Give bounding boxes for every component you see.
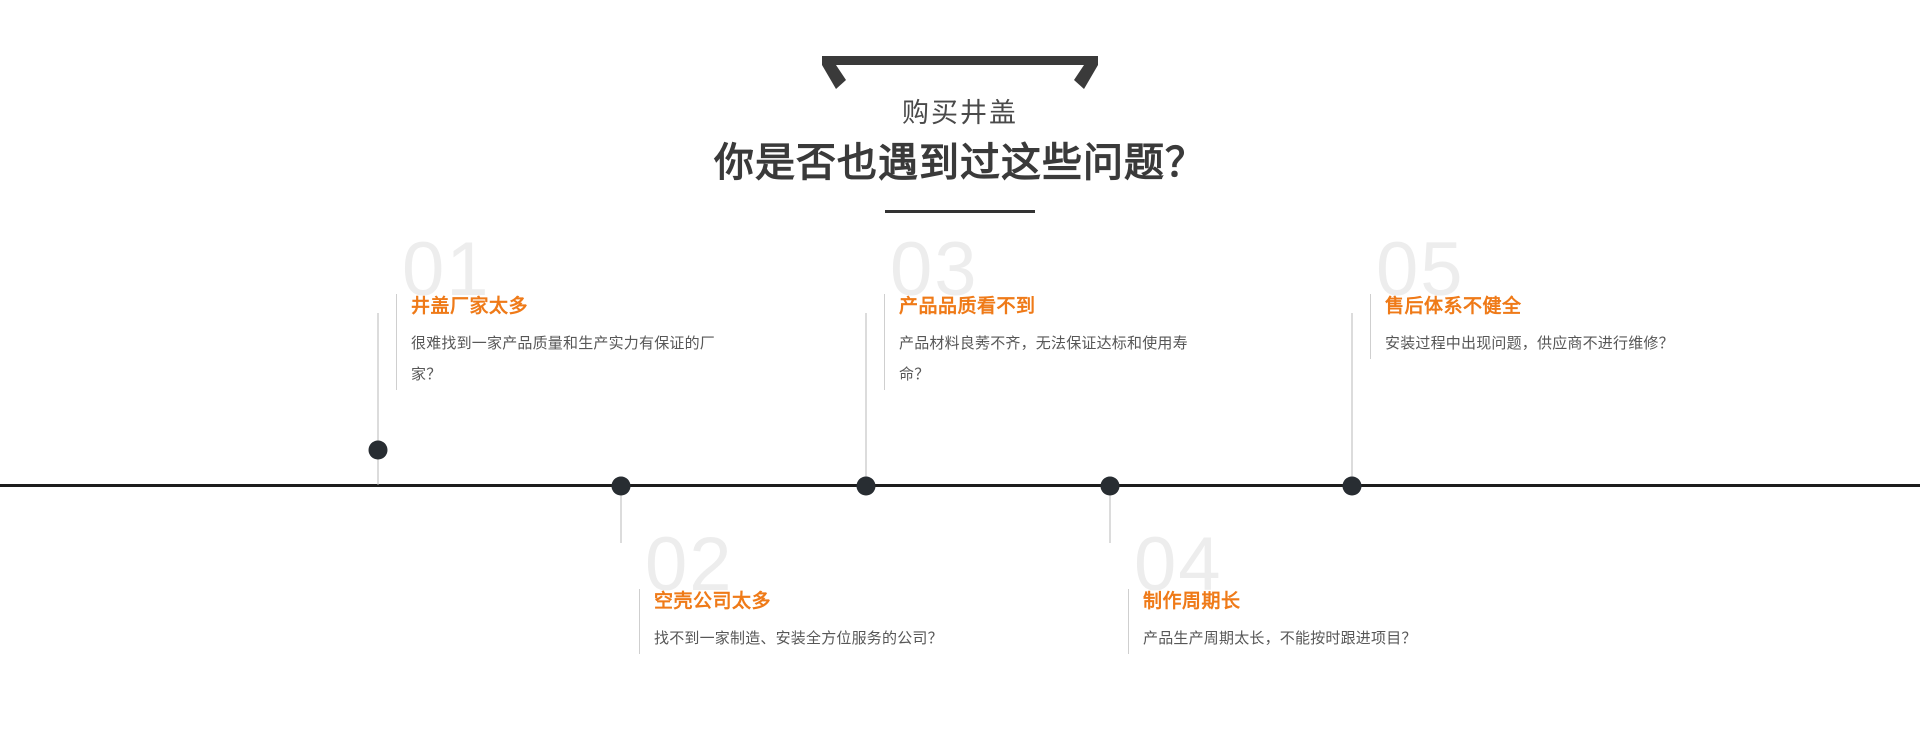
item-description: 产品材料良莠不齐，无法保证达标和使用寿命？ [899, 328, 1215, 390]
timeline-axis [0, 484, 1920, 487]
item-body: 井盖厂家太多很难找到一家产品质量和生产实力有保证的厂家？ [396, 294, 727, 390]
title-divider [885, 210, 1035, 213]
page-title: 你是否也遇到过这些问题？ [0, 137, 1920, 189]
header-subtitle: 购买井盖 [0, 96, 1920, 130]
item-body: 售后体系不健全安装过程中出现问题，供应商不进行维修？ [1370, 294, 1701, 359]
item-title: 制作周期长 [1143, 589, 1459, 615]
item-title: 井盖厂家太多 [411, 294, 727, 320]
item-description: 产品生产周期太长，不能按时跟进项目？ [1143, 623, 1459, 654]
item-title: 售后体系不健全 [1385, 294, 1701, 320]
timeline-dot[interactable] [612, 477, 631, 496]
item-description: 安装过程中出现问题，供应商不进行维修？ [1385, 328, 1701, 359]
page-header: 购买井盖 你是否也遇到过这些问题？ [0, 0, 1920, 230]
item-title: 产品品质看不到 [899, 294, 1215, 320]
timeline-dot[interactable] [369, 441, 388, 460]
item-description: 很难找到一家产品质量和生产实力有保证的厂家？ [411, 328, 727, 390]
timeline-stem [1352, 313, 1353, 485]
item-body: 产品品质看不到产品材料良莠不齐，无法保证达标和使用寿命？ [884, 294, 1215, 390]
timeline-dot[interactable] [857, 477, 876, 496]
timeline-dot[interactable] [1101, 477, 1120, 496]
timeline-dot[interactable] [1343, 477, 1362, 496]
page-root: 购买井盖 你是否也遇到过这些问题？ 01井盖厂家太多很难找到一家产品质量和生产实… [0, 0, 1920, 739]
bracket-chevron-icon [822, 56, 1098, 90]
timeline-stem [866, 313, 867, 485]
item-body: 制作周期长产品生产周期太长，不能按时跟进项目？ [1128, 589, 1459, 654]
item-body: 空壳公司太多找不到一家制造、安装全方位服务的公司？ [639, 589, 970, 654]
item-title: 空壳公司太多 [654, 589, 970, 615]
item-description: 找不到一家制造、安装全方位服务的公司？ [654, 623, 970, 654]
